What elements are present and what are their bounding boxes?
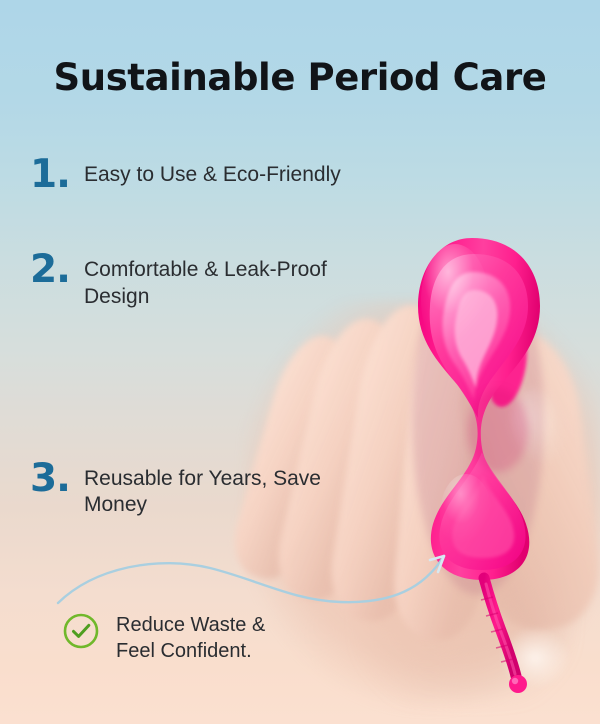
product-stem-ball — [509, 675, 527, 693]
finger-index — [389, 297, 506, 643]
step-number: 2. — [30, 251, 84, 288]
product-stem-highlight — [486, 584, 515, 674]
product-pinch-shadow — [468, 388, 528, 472]
page-title: Sustainable Period Care — [0, 56, 600, 99]
step-number: 3. — [30, 460, 84, 497]
arrow-head — [430, 556, 444, 572]
arrow-curve — [58, 556, 444, 603]
step-label: Comfortable & Leak-Proof Design — [84, 251, 360, 310]
product-sheen-top — [421, 244, 489, 356]
step-number: 1. — [30, 156, 84, 193]
product-stem-ball-highlight — [512, 678, 518, 684]
thumb — [452, 324, 600, 636]
footnote-label: Reduce Waste & Feel Confident. — [116, 612, 265, 664]
product-stem — [484, 578, 516, 676]
product-side-flap — [490, 300, 527, 407]
list-item: 3. Reusable for Years, Save Money — [30, 460, 360, 519]
product-sheen-bottom — [440, 474, 492, 554]
step-label: Reusable for Years, Save Money — [84, 460, 360, 519]
product-inner-fold-core — [455, 290, 498, 388]
list-item: 1. Easy to Use & Eco-Friendly — [30, 156, 360, 193]
check-circle-icon — [62, 612, 100, 650]
infographic-canvas: Sustainable Period Care 1. Easy to Use &… — [0, 0, 600, 724]
palm-highlight — [500, 628, 570, 688]
product-upper-lobe — [430, 254, 528, 418]
thumb-nail — [503, 382, 573, 467]
footnote: Reduce Waste & Feel Confident. — [62, 612, 265, 664]
product-body — [418, 238, 540, 580]
product-stem-ridges — [481, 597, 513, 662]
palm-shadow — [360, 470, 570, 700]
product-lower-inner — [452, 476, 514, 558]
list-item: 2. Comfortable & Leak-Proof Design — [30, 251, 360, 310]
product-inner-fold-top — [443, 272, 511, 400]
product-shadow — [412, 245, 544, 595]
product-lower-lobe — [439, 452, 525, 570]
step-label: Easy to Use & Eco-Friendly — [84, 156, 360, 188]
benefit-list: 1. Easy to Use & Eco-Friendly 2. Comfort… — [30, 156, 360, 519]
